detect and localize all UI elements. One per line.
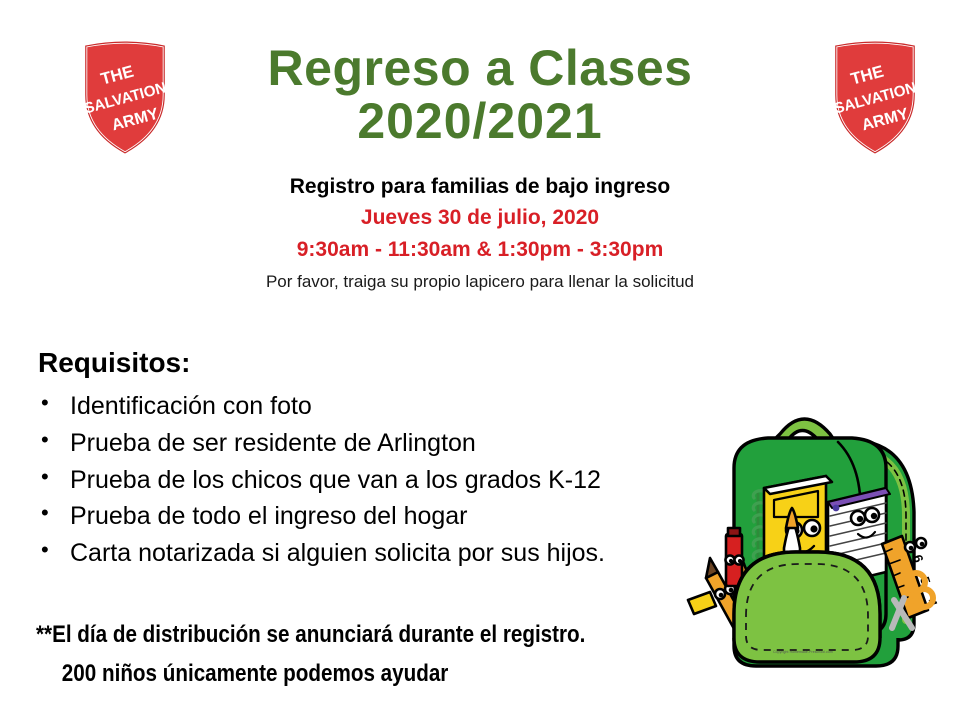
distribution-note-line-2: 200 niños únicamente podemos ayudar (36, 655, 621, 694)
registration-subtitle: Registro para familias de bajo ingreso (80, 172, 880, 202)
requirements-heading: Requisitos: (38, 347, 190, 379)
list-item: Prueba de los chicos que van a los grado… (38, 462, 718, 499)
salvation-army-logo-left: THE SALVATION ARMY (76, 38, 174, 156)
title-line-1: Regreso a Clases (180, 42, 780, 95)
event-details: Registro para familias de bajo ingreso J… (80, 172, 880, 299)
shield-icon: THE SALVATION ARMY (76, 38, 174, 156)
salvation-army-logo-right: THE SALVATION ARMY (826, 38, 924, 156)
backpack-illustration: 6 5 4 (672, 382, 956, 670)
distribution-note: **El día de distribución se anunciará du… (36, 616, 716, 694)
distribution-note-line-1: **El día de distribución se anunciará du… (36, 616, 621, 655)
requirements-list: Identificación con foto Prueba de ser re… (38, 388, 718, 572)
illustration-credit: Copyright Homemade-Preschool.com (763, 650, 843, 654)
bring-pen-note: Por favor, traiga su propio lapicero par… (80, 266, 880, 298)
shield-icon: THE SALVATION ARMY (826, 38, 924, 156)
list-item: Carta notarizada si alguien solicita por… (38, 535, 718, 572)
backpack-icon: 6 5 4 (672, 382, 956, 670)
event-date: Jueves 30 de julio, 2020 (80, 202, 880, 234)
event-hours: 9:30am - 11:30am & 1:30pm - 3:30pm (80, 234, 880, 266)
list-item: Prueba de ser residente de Arlington (38, 425, 718, 462)
page-title: Regreso a Clases 2020/2021 (180, 42, 780, 147)
list-item: Identificación con foto (38, 388, 718, 425)
list-item: Prueba de todo el ingreso del hogar (38, 498, 718, 535)
title-line-2: 2020/2021 (180, 95, 780, 148)
